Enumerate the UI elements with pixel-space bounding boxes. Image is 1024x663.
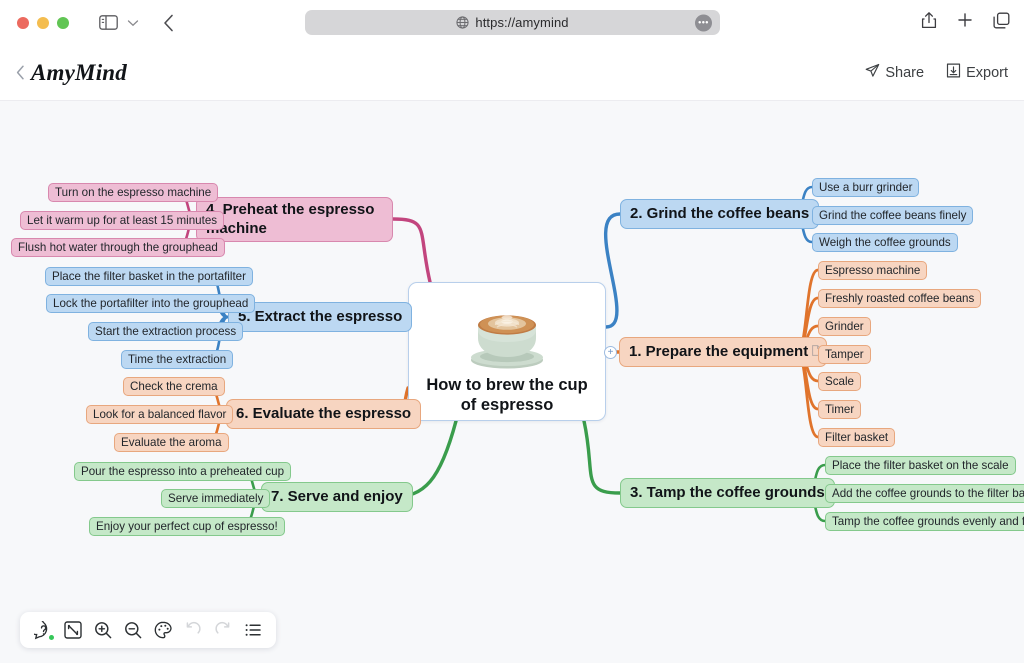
sub-node-1-4[interactable]: Tamper [818,345,871,364]
redo-button[interactable] [208,615,238,645]
sub-node-4-2[interactable]: Let it warm up for at least 15 minutes [20,211,224,230]
sub-node-3-2[interactable]: Add the coffee grounds to the filter bas… [825,484,1024,503]
branch-node-4-label: 4. Preheat the espresso machine [206,201,383,239]
branch-node-4[interactable]: 4. Preheat the espresso machine [196,197,393,242]
plus-icon[interactable] [957,12,973,33]
sub-node-2-1[interactable]: Use a burr grinder [812,178,919,197]
branch-node-5-label: 5. Extract the espresso [238,308,402,326]
browser-toolbar-right [921,11,1010,34]
url-bar[interactable]: https://amymind ••• [305,10,720,35]
app-brand-name: AmyMind [31,60,127,86]
sub-node-7-3[interactable]: Enjoy your perfect cup of espresso! [89,517,285,536]
zoom-in-button[interactable] [88,615,118,645]
central-node[interactable]: How to brew the cup of espresso [408,282,606,421]
page-menu-icon[interactable]: ••• [695,14,712,31]
branch-node-7-label: 7. Serve and enjoy [271,488,403,506]
theme-button[interactable] [148,615,178,645]
sub-node-7-1[interactable]: Pour the espresso into a preheated cup [74,462,291,481]
branch-node-1[interactable]: 1. Prepare the equipment [619,337,827,367]
download-tray-icon [946,63,961,82]
help-button[interactable] [28,615,58,645]
branch-1-collapse-handle[interactable]: + [604,346,617,359]
branch-node-3[interactable]: 3. Tamp the coffee grounds [620,478,835,508]
sub-node-5-1[interactable]: Place the filter basket in the portafilt… [45,267,253,286]
branch-node-7[interactable]: 7. Serve and enjoy [261,482,413,512]
close-window-button[interactable] [17,17,29,29]
sub-node-1-3[interactable]: Grinder [818,317,871,336]
share-up-icon[interactable] [921,11,937,34]
zoom-out-button[interactable] [118,615,148,645]
globe-icon [456,16,469,29]
sub-node-3-3[interactable]: Tamp the coffee grounds evenly and firml… [825,512,1024,531]
branch-node-3-label: 3. Tamp the coffee grounds [630,484,825,502]
sub-node-4-1[interactable]: Turn on the espresso machine [48,183,218,202]
sub-node-5-4[interactable]: Time the extraction [121,350,233,369]
sub-node-7-2[interactable]: Serve immediately [161,489,270,508]
chevron-left-icon[interactable] [16,65,25,80]
branch-node-1-label: 1. Prepare the equipment [629,343,808,361]
header-actions: Share Export [865,63,1008,82]
central-node-title: How to brew the cup of espresso [418,375,596,415]
sub-node-1-2[interactable]: Freshly roasted coffee beans [818,289,981,308]
espresso-latte-cup-image [461,294,553,372]
brand-area[interactable]: AmyMind [16,60,127,86]
bottom-toolbar [20,612,276,648]
window-traffic-lights [17,17,69,29]
sub-node-2-2[interactable]: Grind the coffee beans finely [812,206,973,225]
paper-plane-icon [865,63,880,82]
branch-node-5[interactable]: 5. Extract the espresso [228,302,412,332]
share-button[interactable]: Share [865,63,924,82]
branch-node-2[interactable]: 2. Grind the coffee beans [620,199,819,229]
sub-node-1-7[interactable]: Filter basket [818,428,895,447]
branch-node-6-label: 6. Evaluate the espresso [236,405,411,423]
sub-node-5-2[interactable]: Lock the portafilter into the grouphead [46,294,255,313]
share-label: Share [885,65,924,81]
export-label: Export [966,65,1008,81]
sub-node-1-6[interactable]: Timer [818,400,861,419]
app-header: AmyMind Share Export [0,45,1024,101]
sub-node-6-1[interactable]: Check the crema [123,377,225,396]
sub-node-1-5[interactable]: Scale [818,372,861,391]
url-text: https://amymind [475,15,568,30]
sub-node-5-3[interactable]: Start the extraction process [88,322,243,341]
help-status-dot [49,635,54,640]
sidebar-toggle-icon[interactable] [99,15,118,30]
fit-to-screen-button[interactable] [58,615,88,645]
undo-button[interactable] [178,615,208,645]
sub-node-6-3[interactable]: Evaluate the aroma [114,433,229,452]
sub-node-4-3[interactable]: Flush hot water through the grouphead [11,238,225,257]
branch-node-6[interactable]: 6. Evaluate the espresso [226,399,421,429]
sub-node-2-3[interactable]: Weigh the coffee grounds [812,233,958,252]
sub-node-6-2[interactable]: Look for a balanced flavor [86,405,233,424]
branch-node-2-label: 2. Grind the coffee beans [630,205,809,223]
browser-back-button[interactable] [163,14,174,32]
maximize-window-button[interactable] [57,17,69,29]
sub-node-1-1[interactable]: Espresso machine [818,261,927,280]
chevron-down-icon[interactable] [127,19,139,27]
outline-button[interactable] [238,615,268,645]
minimize-window-button[interactable] [37,17,49,29]
sub-node-3-1[interactable]: Place the filter basket on the scale [825,456,1016,475]
export-button[interactable]: Export [946,63,1008,82]
mindmap-canvas[interactable]: How to brew the cup of espresso 1. Prepa… [0,101,1024,663]
copy-tabs-icon[interactable] [993,12,1010,34]
browser-chrome: https://amymind ••• [0,0,1024,45]
